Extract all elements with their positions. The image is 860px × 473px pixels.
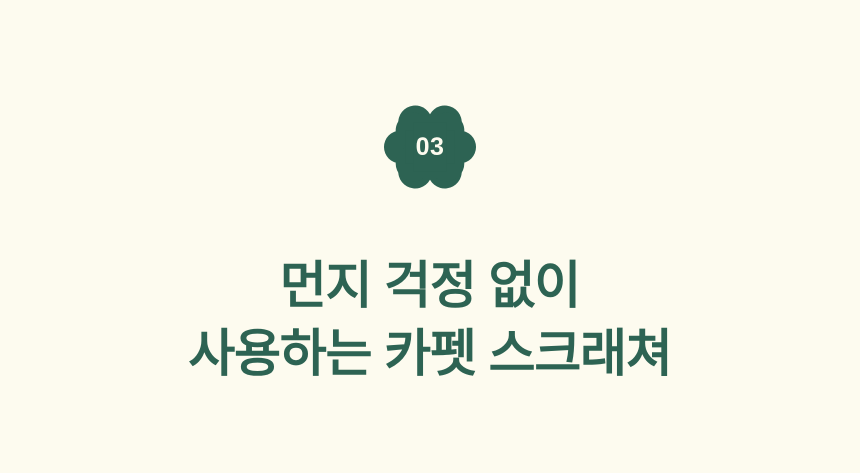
section-heading-slide: 03 먼지 걱정 없이 사용하는 카펫 스크래쳐 [0, 0, 860, 473]
page-title: 먼지 걱정 없이 사용하는 카펫 스크래쳐 [0, 252, 860, 388]
page-title-line-1: 먼지 걱정 없이 [0, 252, 860, 320]
step-number-label: 03 [391, 108, 469, 186]
page-title-line-2: 사용하는 카펫 스크래쳐 [0, 320, 860, 388]
step-badge: 03 [391, 108, 469, 186]
